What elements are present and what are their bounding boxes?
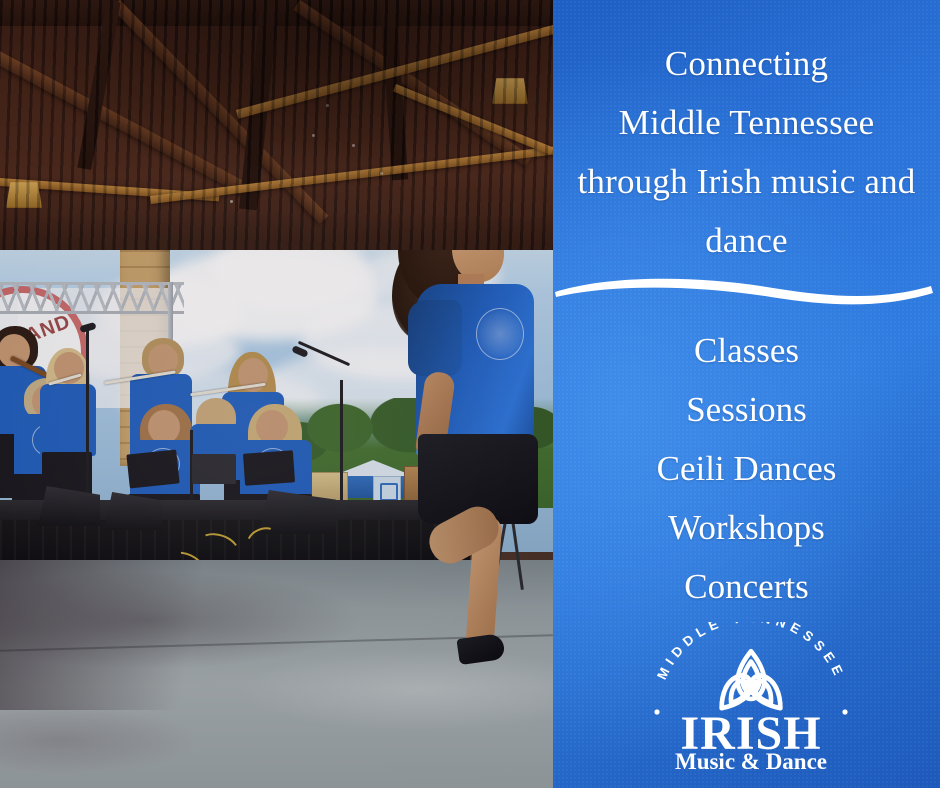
headline-line-2: Middle Tennessee [567,93,926,152]
poster-canvas: HIGHLAND [0,0,940,788]
dancer-ghillie-shoe [456,633,505,665]
music-stand [192,454,236,484]
service-item-workshops: Workshops [567,498,926,557]
roof-gold-beam [393,84,553,155]
services-list: Classes Sessions Ceili Dances Workshops … [567,321,926,616]
dust-mote [380,172,383,175]
dust-mote [230,200,233,203]
roof-rafter [0,0,553,26]
floor-shadow [0,560,230,710]
music-stand [126,449,179,488]
logo-tagline: Music & Dance [645,750,857,773]
roof-beam [111,0,328,224]
service-item-ceili-dances: Ceili Dances [567,439,926,498]
music-stand [243,450,295,485]
roof-beam [293,0,532,167]
irish-step-dancer [392,196,552,666]
service-item-sessions: Sessions [567,380,926,439]
headline-line-1: Connecting [567,34,926,93]
mic-stand-pole [86,330,89,512]
service-item-classes: Classes [567,321,926,380]
roof-gold-beam [0,178,219,201]
organization-logo: MIDDLE TENNESSEE IRISH Music & Dance [645,622,857,770]
dancer-sleeve [408,300,462,376]
roof-shading [0,0,553,250]
musician-head [256,410,288,444]
pavilion-roof [0,0,553,250]
mic-stand-pole [340,380,343,512]
headline-block: Connecting Middle Tennessee through Iris… [567,34,926,270]
roof-rafter [239,0,279,210]
headline-line-3: through Irish music and [567,152,926,211]
roof-beam [0,30,260,201]
dust-mote [352,144,355,147]
roof-rafter [380,0,409,180]
service-item-concerts: Concerts [567,557,926,616]
hanging-lamp [6,182,42,208]
roof-gold-beam [150,145,553,204]
dust-mote [312,134,315,137]
roof-gold-beam [236,25,553,119]
wave-divider [553,262,940,308]
musician-head [148,410,180,444]
roof-edge-shadow [0,216,553,250]
roof-rafter [77,0,120,170]
event-photograph: HIGHLAND [0,0,553,788]
dust-mote [326,104,329,107]
stage-truss [0,282,184,314]
tshirt-logo-print [476,308,524,360]
hanging-lamp [492,78,528,104]
